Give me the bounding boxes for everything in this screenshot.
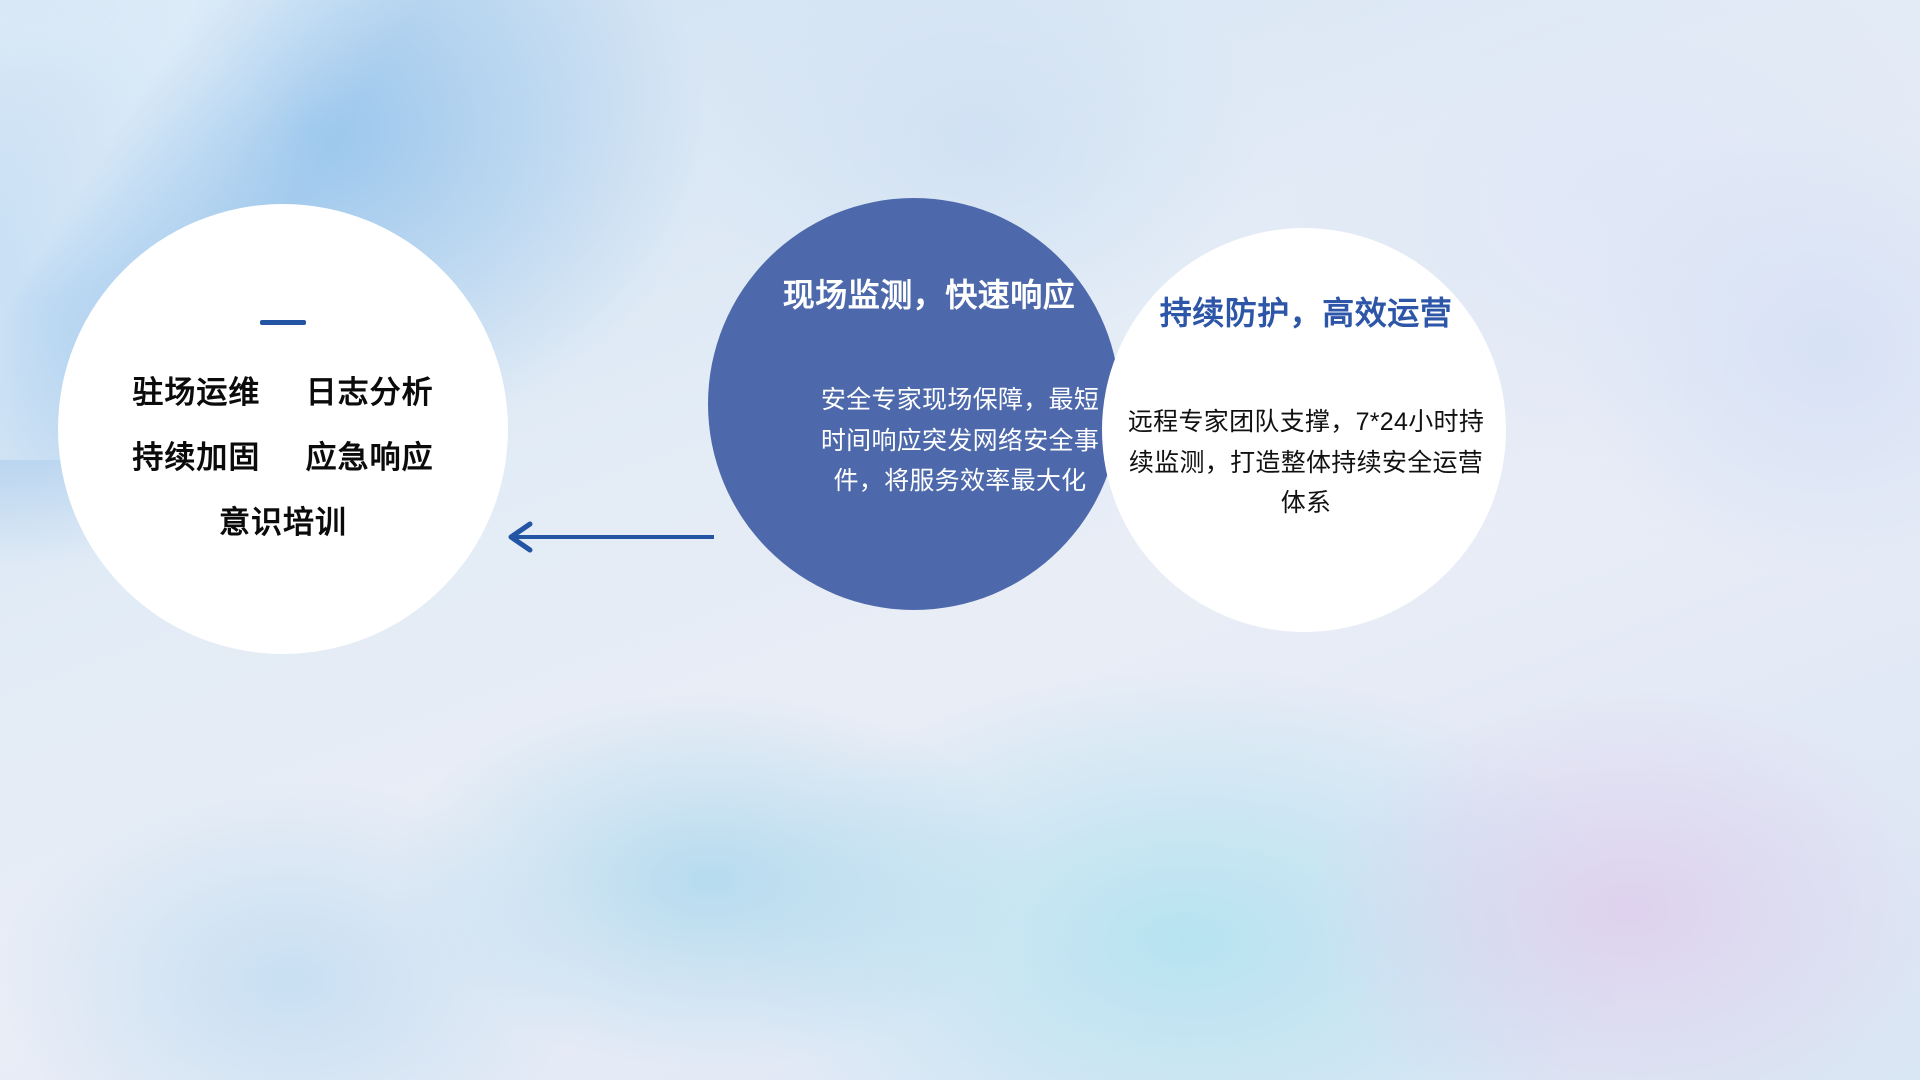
capability-label: 日志分析: [306, 375, 434, 410]
capability-row-1: 驻场运维 日志分析: [132, 377, 433, 408]
background-blob-bottomleft: [0, 700, 700, 1080]
slide-canvas: 驻场运维 日志分析 持续加固 应急响应 意识培训 现场监测，快速响应 安全专家现…: [0, 0, 1920, 1080]
arrow-left-icon: [496, 520, 716, 554]
middle-circle-body: 安全专家现场保障，最短时间响应突发网络安全事件，将服务效率最大化: [816, 380, 1104, 502]
middle-circle-content: 现场监测，快速响应 安全专家现场保障，最短时间响应突发网络安全事件，将服务效率最…: [754, 276, 1104, 502]
capability-label: 持续加固: [132, 440, 260, 475]
capability-row-2: 持续加固 应急响应: [132, 442, 433, 473]
capability-label: 意识培训: [219, 505, 347, 540]
connector-arrow: [496, 520, 716, 554]
capability-label: 驻场运维: [132, 375, 260, 410]
right-circle-content: 持续防护，高效运营 远程专家团队支撑，7*24小时持续监测，打造整体持续安全运营…: [1116, 294, 1496, 524]
capability-circle-middle[interactable]: 现场监测，快速响应 安全专家现场保障，最短时间响应突发网络安全事件，将服务效率最…: [708, 198, 1120, 610]
capability-row-3: 意识培训: [219, 507, 347, 538]
right-circle-body: 远程专家团队支撑，7*24小时持续监测，打造整体持续安全运营体系: [1116, 402, 1496, 524]
capability-circle-right[interactable]: 持续防护，高效运营 远程专家团队支撑，7*24小时持续监测，打造整体持续安全运营…: [1102, 228, 1506, 632]
left-circle-content: 驻场运维 日志分析 持续加固 应急响应 意识培训: [58, 204, 508, 654]
background-blob-pink-bottomright: [1180, 600, 1920, 1080]
capability-circle-left[interactable]: 驻场运维 日志分析 持续加固 应急响应 意识培训: [58, 204, 508, 654]
right-circle-title: 持续防护，高效运营: [1116, 294, 1496, 332]
divider-dash-icon: [260, 320, 306, 325]
capability-label: 应急响应: [306, 440, 434, 475]
middle-circle-title: 现场监测，快速响应: [754, 276, 1104, 314]
